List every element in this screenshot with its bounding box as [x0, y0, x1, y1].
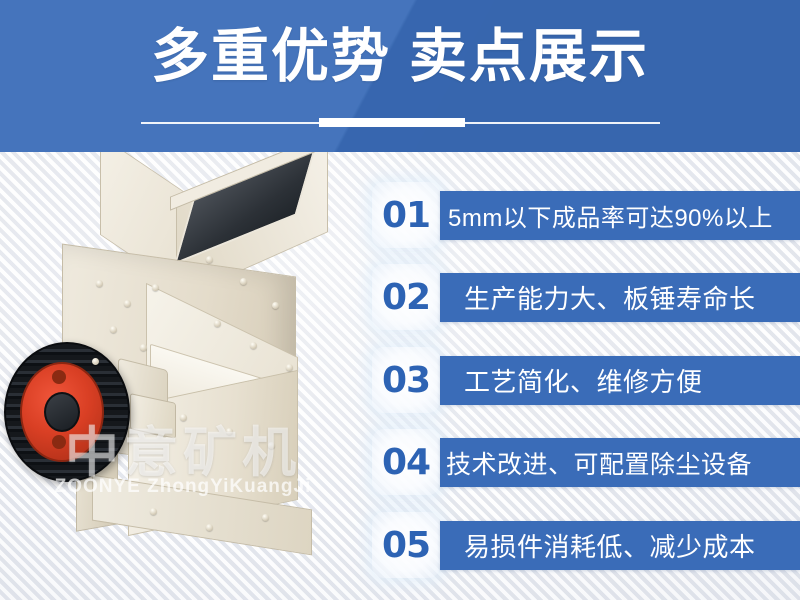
feature-item: 01 5mm以下成品率可达90%以上 — [370, 182, 800, 248]
product-photo: 中意矿机 ZOONYE ZhongYiKuangJi — [0, 152, 372, 600]
feature-text-bar: 生产能力大、板锤寿命长 — [440, 273, 800, 322]
feature-number-badge: 01 — [372, 182, 440, 248]
feature-item: 02 生产能力大、板锤寿命长 — [370, 264, 800, 330]
bolt — [140, 344, 147, 351]
bolt — [286, 364, 293, 371]
bolt — [110, 326, 117, 333]
bolt — [268, 442, 275, 449]
bolt — [240, 278, 247, 285]
feature-number: 02 — [382, 277, 430, 318]
bolt — [206, 524, 213, 531]
feature-text-bar: 易损件消耗低、减少成本 — [440, 521, 800, 570]
bolt — [96, 280, 103, 287]
feature-number-badge: 02 — [372, 264, 440, 330]
bolt — [214, 320, 221, 327]
feature-item: 05 易损件消耗低、减少成本 — [370, 512, 800, 578]
bolt — [150, 508, 157, 515]
feature-text: 生产能力大、板锤寿命长 — [440, 279, 756, 316]
feature-text-bar: 技术改进、可配置除尘设备 — [440, 438, 800, 487]
bolt — [262, 514, 269, 521]
hammer-crusher-illustration — [0, 152, 372, 600]
feature-text-bar: 5mm以下成品率可达90%以上 — [440, 191, 800, 240]
feature-text: 工艺简化、维修方便 — [440, 362, 703, 399]
feature-list: 01 5mm以下成品率可达90%以上 02 生产能力大、板锤寿命长 03 工艺简… — [370, 182, 800, 600]
feature-text: 5mm以下成品率可达90%以上 — [440, 198, 773, 233]
bolt — [272, 302, 279, 309]
bolt — [124, 300, 131, 307]
bolt — [250, 342, 257, 349]
header-banner: 多重优势 卖点展示 — [0, 0, 800, 152]
feature-text: 技术改进、可配置除尘设备 — [440, 445, 752, 481]
bolt — [152, 284, 159, 291]
page-title: 多重优势 卖点展示 — [0, 20, 800, 94]
feature-number: 01 — [382, 195, 430, 236]
feature-number-badge: 03 — [372, 347, 440, 413]
promo-poster: 多重优势 卖点展示 — [0, 0, 800, 600]
pulley-hole — [52, 370, 66, 384]
feature-number: 05 — [382, 525, 430, 566]
pulley-hole — [52, 435, 66, 449]
bolt — [180, 414, 187, 421]
feature-number: 03 — [382, 360, 430, 401]
feature-number-badge: 05 — [372, 512, 440, 578]
divider-thick-segment — [319, 118, 465, 127]
feature-number-badge: 04 — [372, 429, 440, 495]
feature-item: 04 技术改进、可配置除尘设备 — [370, 429, 800, 495]
header-divider — [141, 121, 660, 124]
feature-number: 04 — [382, 442, 430, 483]
pulley-hub — [44, 392, 80, 432]
feature-text-bar: 工艺简化、维修方便 — [440, 356, 800, 405]
feature-item: 03 工艺简化、维修方便 — [370, 347, 800, 413]
bolt — [226, 428, 233, 435]
bolt — [92, 358, 99, 365]
bolt — [206, 256, 213, 263]
feature-text: 易损件消耗低、减少成本 — [440, 527, 756, 564]
